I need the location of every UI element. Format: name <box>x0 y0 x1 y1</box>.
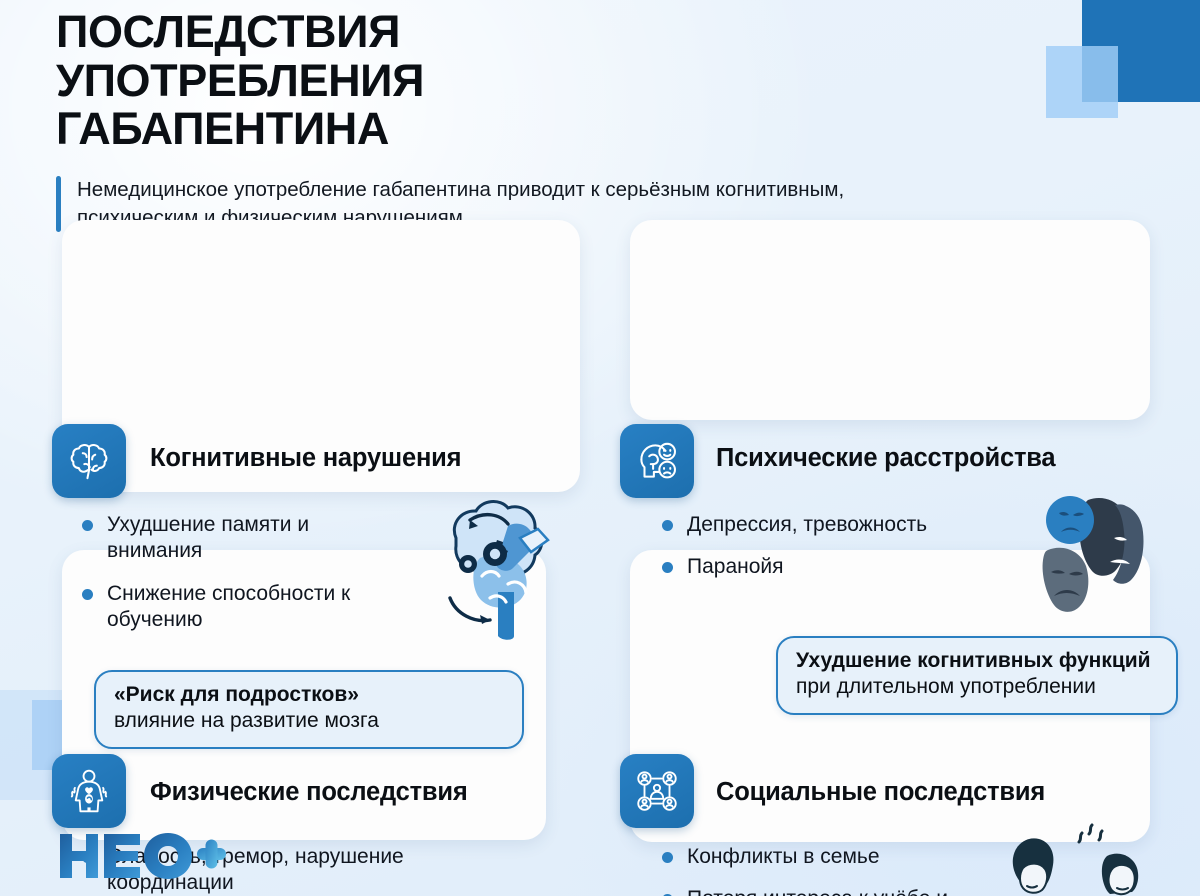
callout-bold-text: «Риск для подростков» <box>114 683 359 706</box>
callout-rest-text: при длительном употреблении <box>796 675 1096 698</box>
card-title-cognitive: Когнитивные нарушения <box>150 444 461 473</box>
brain-gears-illustration <box>420 480 595 645</box>
card-title-mental: Психические расстройства <box>716 444 1055 473</box>
body-organs-icon <box>52 754 126 828</box>
card-title-physical: Физические последствия <box>150 778 468 807</box>
callout-text: «Риск для подростков» влияние на развити… <box>114 682 504 735</box>
decorative-square-top-right-light <box>1046 46 1118 118</box>
family-conflict-illustration <box>975 820 1155 896</box>
bullet-list-mental: Депрессия, тревожность Паранойя <box>660 512 1040 597</box>
bullet-list-social: Конфликты в семье Потеря интереса к учёб… <box>660 844 1000 896</box>
cards-grid: Когнитивные нарушения <box>0 212 1200 852</box>
header: ПОСЛЕДСТВИЯ УПОТРЕБЛЕНИЯ ГАБАПЕНТИНА Нем… <box>56 8 1056 232</box>
people-network-icon <box>620 754 694 828</box>
sad-masks-illustration <box>1040 484 1168 614</box>
page-title: ПОСЛЕДСТВИЯ УПОТРЕБЛЕНИЯ ГАБАПЕНТИНА <box>56 8 756 154</box>
callout-long-term-use: Ухудшение когнитивных функций при длител… <box>776 636 1178 715</box>
card-title-social: Социальные последствия <box>716 778 1045 807</box>
head-emotions-icon <box>620 424 694 498</box>
neo-plus-logo <box>58 830 228 882</box>
card-mental <box>630 220 1150 420</box>
list-item: Конфликты в семье <box>660 844 1000 870</box>
list-item: Потеря интереса к учёбе и хобби <box>660 886 1000 896</box>
callout-bold-text: Ухудшение когнитивных функций <box>796 649 1151 672</box>
list-item: Депрессия, тревожность <box>660 512 1040 538</box>
list-item: Снижение способности к обучению <box>80 581 410 634</box>
bullet-list-cognitive: Ухудшение памяти и внимания Снижение спо… <box>80 512 410 650</box>
callout-text: Ухудшение когнитивных функций при длител… <box>796 648 1158 701</box>
callout-rest-text: влияние на развитие мозга <box>114 709 379 732</box>
list-item: Паранойя <box>660 554 1040 580</box>
infographic-poster: ПОСЛЕДСТВИЯ УПОТРЕБЛЕНИЯ ГАБАПЕНТИНА Нем… <box>0 0 1200 896</box>
list-item: Ухудшение памяти и внимания <box>80 512 410 565</box>
callout-teen-risk: «Риск для подростков» влияние на развити… <box>94 670 524 749</box>
brain-icon <box>52 424 126 498</box>
